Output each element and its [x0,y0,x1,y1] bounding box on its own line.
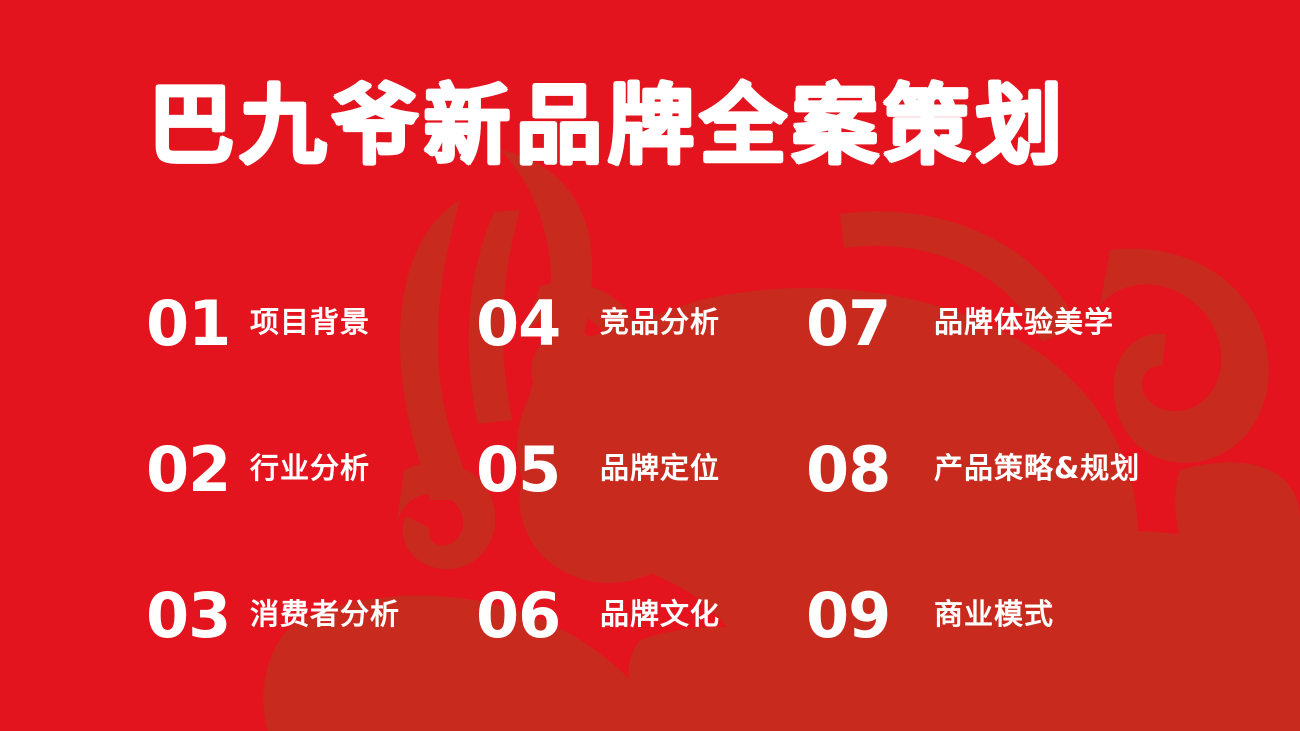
agenda-item-number: 05 [476,439,600,501]
agenda-item-label: 品牌文化 [600,599,720,633]
agenda-item-03[interactable]: 03 消费者分析 [146,578,476,654]
agenda-item-number: 08 [806,439,934,501]
agenda-item-01[interactable]: 01 项目背景 [146,286,476,362]
agenda-item-label: 品牌定位 [600,453,720,487]
agenda-item-02[interactable]: 02 行业分析 [146,432,476,508]
agenda-item-09[interactable]: 09 商业模式 [806,578,1226,654]
agenda-item-number: 02 [146,439,250,501]
page-title: 巴九爷新品牌全案策划 [148,83,1068,169]
agenda-item-05[interactable]: 05 品牌定位 [476,432,806,508]
agenda-item-08[interactable]: 08 产品策略&规划 [806,432,1226,508]
agenda-item-number: 04 [476,293,600,355]
agenda-item-number: 07 [806,293,934,355]
presentation-slide: 巴九爷新品牌全案策划 01 项目背景 02 行业分析 03 消费者分析 04 竞… [0,0,1300,731]
agenda-item-04[interactable]: 04 竞品分析 [476,286,806,362]
agenda-item-number: 03 [146,585,250,647]
agenda-item-label: 品牌体验美学 [934,307,1114,341]
agenda-item-06[interactable]: 06 品牌文化 [476,578,806,654]
agenda-list: 01 项目背景 02 行业分析 03 消费者分析 04 竞品分析 05 品牌定位… [146,286,1226,654]
title-block: 巴九爷新品牌全案策划 [148,83,1068,169]
agenda-item-number: 06 [476,585,600,647]
agenda-item-label: 竞品分析 [600,307,720,341]
agenda-item-label: 产品策略&规划 [934,453,1140,487]
agenda-item-label: 项目背景 [250,307,370,341]
agenda-item-number: 01 [146,293,250,355]
agenda-item-label: 消费者分析 [250,599,400,633]
agenda-item-number: 09 [806,585,934,647]
agenda-item-07[interactable]: 07 品牌体验美学 [806,286,1226,362]
agenda-item-label: 商业模式 [934,599,1054,633]
agenda-item-label: 行业分析 [250,453,370,487]
